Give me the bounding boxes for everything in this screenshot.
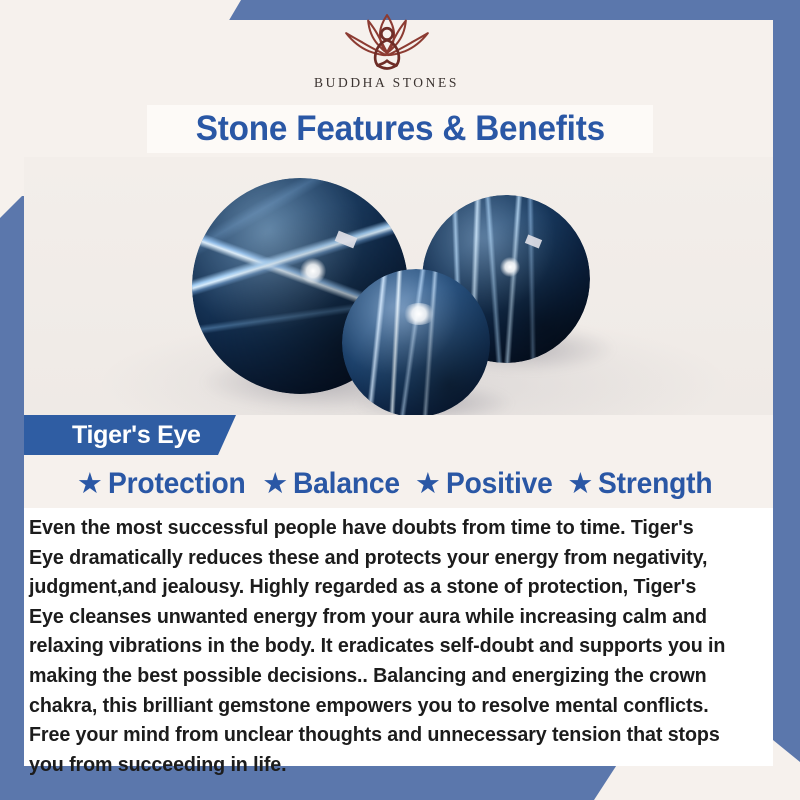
star-icon: ★ bbox=[567, 470, 593, 499]
decorative-left-bar bbox=[0, 196, 24, 800]
star-icon: ★ bbox=[262, 470, 288, 499]
stone-name-tag: Tiger's Eye bbox=[24, 415, 236, 455]
benefit-label: Protection bbox=[108, 467, 246, 501]
sphere-highlight bbox=[300, 258, 326, 284]
description-text: Even the most successful people have dou… bbox=[29, 514, 733, 780]
sphere-shading bbox=[342, 269, 490, 415]
star-icon: ★ bbox=[415, 470, 441, 499]
title-banner: Stone Features & Benefits bbox=[147, 105, 653, 153]
benefit-label: Balance bbox=[293, 467, 400, 501]
decorative-right-bar bbox=[773, 0, 800, 762]
infographic-poster: BUDDHA STONES Stone Features & Benefits bbox=[0, 0, 800, 800]
star-icon: ★ bbox=[77, 470, 103, 499]
page-title: Stone Features & Benefits bbox=[195, 109, 604, 149]
gemstone-sphere bbox=[342, 269, 490, 415]
sphere-highlight bbox=[500, 257, 520, 277]
description-card: Even the most successful people have dou… bbox=[24, 508, 773, 766]
brand-header: BUDDHA STONES bbox=[0, 6, 773, 102]
benefit-item-protection: ★ Protection bbox=[77, 467, 254, 501]
sphere-highlight bbox=[402, 303, 436, 325]
stone-name: Tiger's Eye bbox=[72, 421, 201, 450]
benefit-item-balance: ★ Balance bbox=[262, 467, 407, 501]
benefits-row: ★ Protection ★ Balance ★ Positive ★ Stre… bbox=[24, 462, 773, 506]
lotus-meditation-icon bbox=[319, 8, 455, 74]
benefit-label: Positive bbox=[446, 467, 553, 501]
benefit-item-positive: ★ Positive bbox=[415, 467, 559, 501]
benefit-label: Strength bbox=[598, 467, 712, 501]
stone-photo bbox=[24, 157, 773, 415]
benefit-item-strength: ★ Strength bbox=[567, 467, 720, 501]
brand-name: BUDDHA STONES bbox=[314, 75, 459, 91]
